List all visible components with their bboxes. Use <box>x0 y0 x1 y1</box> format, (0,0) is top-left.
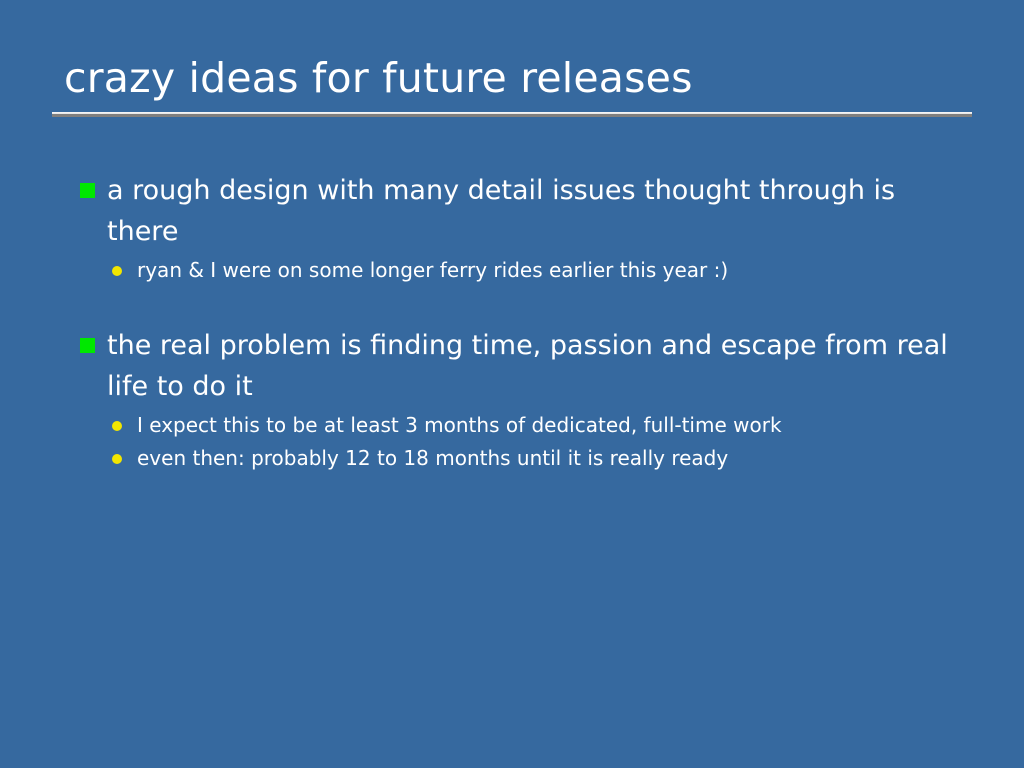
title-block: crazy ideas for future releases <box>52 52 972 117</box>
list-item: ryan & I were on some longer ferry rides… <box>74 254 974 287</box>
list-item: I expect this to be at least 3 months of… <box>74 409 974 442</box>
list-item-label: ryan & I were on some longer ferry rides… <box>137 258 728 282</box>
presentation-slide: crazy ideas for future releases a rough … <box>0 0 1024 768</box>
list-item: even then: probably 12 to 18 months unti… <box>74 442 974 475</box>
list-item-label: even then: probably 12 to 18 months unti… <box>137 446 728 470</box>
list-item: a rough design with many detail issues t… <box>74 170 974 252</box>
list-item-label: I expect this to be at least 3 months of… <box>137 413 782 437</box>
list-item-label: a rough design with many detail issues t… <box>107 175 895 247</box>
square-bullet-icon <box>80 338 95 353</box>
disc-bullet-icon <box>112 454 122 464</box>
list-item: the real problem is finding time, passio… <box>74 325 974 407</box>
bullet-group: a rough design with many detail issues t… <box>74 170 974 287</box>
square-bullet-icon <box>80 183 95 198</box>
page-title: crazy ideas for future releases <box>52 52 972 104</box>
disc-bullet-icon <box>112 421 122 431</box>
title-divider <box>52 112 972 117</box>
bullet-group: the real problem is finding time, passio… <box>74 325 974 475</box>
disc-bullet-icon <box>112 266 122 276</box>
list-item-label: the real problem is finding time, passio… <box>107 330 948 402</box>
sub-bullet-list: ryan & I were on some longer ferry rides… <box>74 254 974 287</box>
bullet-content: a rough design with many detail issues t… <box>74 170 974 475</box>
sub-bullet-list: I expect this to be at least 3 months of… <box>74 409 974 475</box>
